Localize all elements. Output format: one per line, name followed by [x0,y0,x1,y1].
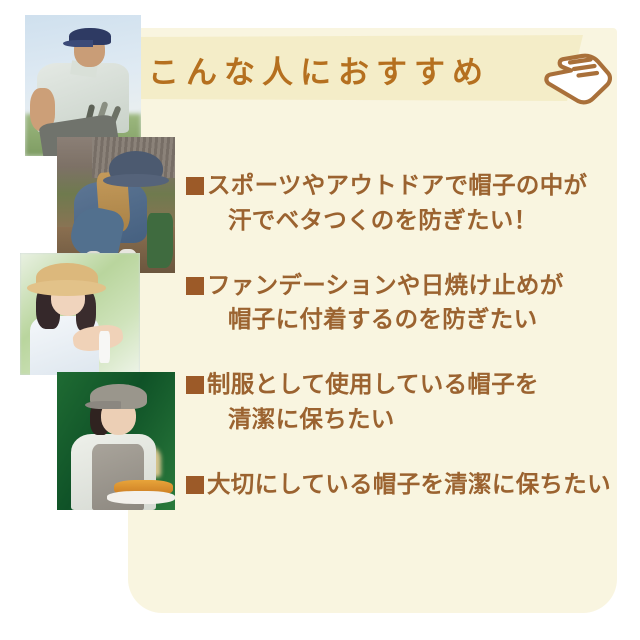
cafe-worker-photo [57,372,175,510]
bullet-square-icon [186,376,204,394]
page-title: こんな人におすすめ [148,43,548,95]
list-item-line1: スポーツやアウトドアで帽子の中が [207,172,587,198]
infographic-canvas: こんな人におすすめ スポーツやアウトドアで帽子の中が 汗でベタつくのを防ぎたい！ [0,0,640,640]
list-item-line2: 汗でベタつくのを防ぎたい！ [207,203,587,238]
list-item-line2: 清潔に保ちたい [207,402,539,437]
list-item: ファンデーションや日焼け止めが 帽子に付着するのを防ぎたい [186,268,616,338]
bullet-square-icon [186,177,204,195]
list-item-line1: 制服として使用している帽子を [207,371,539,397]
list-item: スポーツやアウトドアで帽子の中が 汗でベタつくのを防ぎたい！ [186,168,616,238]
list-item-line1: 大切にしている帽子を清潔に保ちたい [207,471,611,497]
benefit-list: スポーツやアウトドアで帽子の中が 汗でベタつくのを防ぎたい！ ファンデーションや… [186,168,616,501]
sunscreen-photo [20,253,140,375]
list-item-line2: 帽子に付着するのを防ぎたい [207,302,564,337]
bullet-square-icon [186,277,204,295]
golfer-photo [25,15,141,156]
bullet-square-icon [186,476,204,494]
list-item: 大切にしている帽子を清潔に保ちたい [186,467,616,502]
list-item: 制服として使用している帽子を 清潔に保ちたい [186,367,616,437]
pointing-hand-icon [538,38,614,110]
list-item-line1: ファンデーションや日焼け止めが [207,272,564,298]
